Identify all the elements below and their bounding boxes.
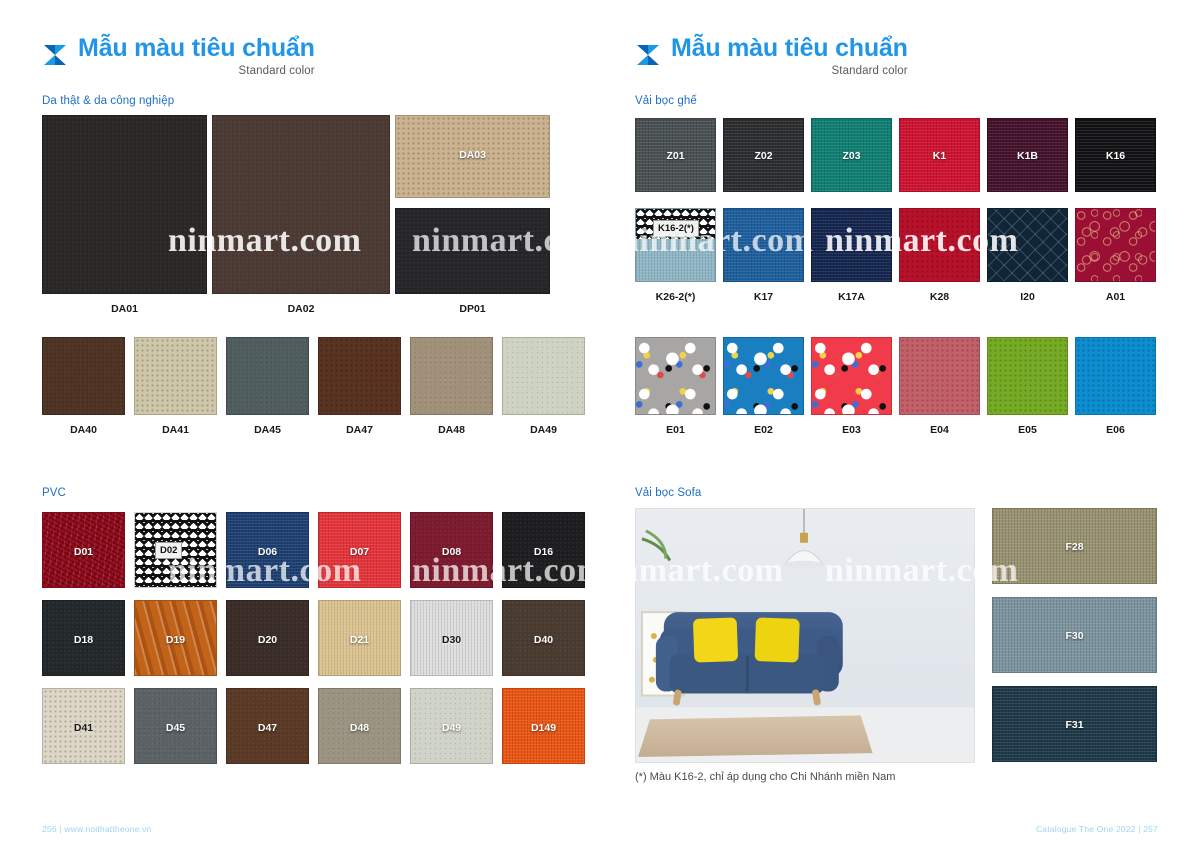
swatch-code-label: D21	[319, 634, 400, 646]
swatch-k17a[interactable]	[811, 208, 892, 282]
swatch-code-label: D08	[411, 546, 492, 558]
swatch-d149[interactable]: D149	[502, 688, 585, 764]
swatch-a01[interactable]	[1075, 208, 1156, 282]
swatch-caption: DP01	[395, 303, 550, 315]
swatch-cell-z03[interactable]: Z03	[811, 118, 899, 192]
swatch-cell-k1b[interactable]: K1B	[987, 118, 1075, 192]
swatch-caption: DA48	[410, 424, 493, 436]
swatch-cell-z02[interactable]: Z02	[723, 118, 811, 192]
swatch-d40[interactable]: D40	[502, 600, 585, 676]
swatch-da48[interactable]	[410, 337, 493, 415]
swatch-cell-d21[interactable]: D21	[318, 600, 410, 676]
swatch-cell-e06[interactable]: E06	[1075, 337, 1163, 415]
swatch-code-label: D07	[319, 546, 400, 558]
swatch-cell-da47[interactable]: DA47	[318, 337, 410, 415]
swatch-code-label: D41	[43, 722, 124, 734]
swatch-code-label: D45	[135, 722, 216, 734]
swatch-cell-d45[interactable]: D45	[134, 688, 226, 764]
page-subtitle: Standard color	[671, 65, 908, 77]
swatch-note-label: K16-2(*)	[653, 220, 699, 237]
swatch-k28[interactable]	[899, 208, 980, 282]
swatch-cell-e05[interactable]: E05	[987, 337, 1075, 415]
swatch-d47[interactable]: D47	[226, 688, 309, 764]
swatch-code-label: Z03	[812, 150, 891, 162]
swatch-code-label: Z01	[636, 150, 715, 162]
right-page-header: Mẫu màu tiêu chuẩn Standard color	[635, 34, 908, 77]
swatch-d21[interactable]: D21	[318, 600, 401, 676]
swatch-caption: E04	[899, 424, 980, 436]
swatch-stack-f: F28 F30 F31	[992, 508, 1157, 762]
swatch-da02[interactable]	[212, 115, 390, 294]
swatch-k17[interactable]	[723, 208, 804, 282]
section-label-sofa-fabric: Vải bọc Sofa	[635, 487, 701, 499]
swatch-code-label: D48	[319, 722, 400, 734]
swatch-caption: E01	[635, 424, 716, 436]
swatch-code-label: K16	[1076, 150, 1155, 162]
swatch-da45[interactable]	[226, 337, 309, 415]
swatch-f30[interactable]: F30	[992, 597, 1157, 673]
swatch-caption: DA01	[42, 303, 207, 315]
swatch-e05[interactable]	[987, 337, 1068, 415]
swatch-cell-d18[interactable]: D18	[42, 600, 134, 676]
swatch-caption: I20	[987, 291, 1068, 303]
left-page: Mẫu màu tiêu chuẩn Standard color Da thậ…	[0, 0, 600, 848]
swatch-cell-d02[interactable]: D02	[134, 512, 226, 588]
swatch-caption: DA47	[318, 424, 401, 436]
swatch-d41[interactable]: D41	[42, 688, 125, 764]
swatch-d49[interactable]: D49	[410, 688, 493, 764]
swatch-caption: E06	[1075, 424, 1156, 436]
swatch-cell-d40[interactable]: D40	[502, 600, 594, 676]
swatch-cell-e01[interactable]: E01	[635, 337, 723, 415]
swatch-cell-d49[interactable]: D49	[410, 688, 502, 764]
pinwheel-logo-icon	[42, 42, 68, 68]
swatch-cell-d41[interactable]: D41	[42, 688, 134, 764]
sofa-photo	[635, 508, 975, 763]
swatch-cell-a01[interactable]: A01	[1075, 208, 1163, 282]
swatch-code-label: K1	[900, 150, 979, 162]
swatch-code-label: D20	[227, 634, 308, 646]
pinwheel-logo-icon	[635, 42, 661, 68]
swatch-cell-k17[interactable]: K17	[723, 208, 811, 282]
swatch-f31[interactable]: F31	[992, 686, 1157, 762]
section-label-leather: Da thật & da công nghiệp	[42, 95, 174, 107]
swatch-z01[interactable]: Z01	[635, 118, 716, 192]
swatch-cell-da03-dp01[interactable]: DA03 DP01	[395, 115, 555, 294]
swatch-cell-e02[interactable]: E02	[723, 337, 811, 415]
swatch-k1[interactable]: K1	[899, 118, 980, 192]
swatch-caption: DA40	[42, 424, 125, 436]
swatch-caption: K17A	[811, 291, 892, 303]
swatch-da03[interactable]: DA03	[395, 115, 550, 198]
swatch-cell-k28[interactable]: K28	[899, 208, 987, 282]
swatch-code-label: D47	[227, 722, 308, 734]
swatch-caption: K26-2(*)	[635, 291, 716, 303]
swatch-caption: DA49	[502, 424, 585, 436]
section-label-chair-fabric: Vải bọc ghế	[635, 95, 697, 107]
swatch-cell-da02[interactable]: DA02	[212, 115, 395, 294]
catalogue-spread: Mẫu màu tiêu chuẩn Standard color Da thậ…	[0, 0, 1200, 848]
swatch-cell-da48[interactable]: DA48	[410, 337, 502, 415]
swatch-row-z: Z01 Z02 Z03 K1	[635, 118, 1163, 192]
swatch-d08[interactable]: D08	[410, 512, 493, 588]
swatch-code-label: F31	[993, 719, 1156, 731]
swatch-code-label: D16	[503, 546, 584, 558]
swatch-e06[interactable]	[1075, 337, 1156, 415]
swatch-caption: E02	[723, 424, 804, 436]
swatch-da41[interactable]	[134, 337, 217, 415]
swatch-caption: K17	[723, 291, 804, 303]
swatch-da01[interactable]	[42, 115, 207, 294]
swatch-split-bottom	[636, 239, 715, 281]
swatch-code-label: D49	[411, 722, 492, 734]
swatch-cell-d19[interactable]: D19	[134, 600, 226, 676]
swatch-e02[interactable]	[723, 337, 804, 415]
right-page: Mẫu màu tiêu chuẩn Standard color Vải bọ…	[600, 0, 1200, 848]
swatch-cell-i20[interactable]: I20	[987, 208, 1075, 282]
swatch-cell-e03[interactable]: E03	[811, 337, 899, 415]
swatch-code-label: K1B	[988, 150, 1067, 162]
page-subtitle: Standard color	[78, 65, 315, 77]
swatch-row-pvc-3: D41 D45 D47 D48	[42, 688, 594, 764]
swatch-code-label: D06	[227, 546, 308, 558]
swatch-cell-d07[interactable]: D07	[318, 512, 410, 588]
swatch-dp01[interactable]	[395, 208, 550, 294]
swatch-d30[interactable]: D30	[410, 600, 493, 676]
swatch-code-label: Z02	[724, 150, 803, 162]
swatch-code-label: D30	[411, 634, 492, 646]
swatch-cell-k16[interactable]: K16	[1075, 118, 1163, 192]
swatch-caption: K28	[899, 291, 980, 303]
swatch-da47[interactable]	[318, 337, 401, 415]
swatch-e01[interactable]	[635, 337, 716, 415]
swatch-code-label: D02	[155, 542, 182, 559]
swatch-z02[interactable]: Z02	[723, 118, 804, 192]
swatch-cell-da01[interactable]: DA01	[42, 115, 212, 294]
swatch-row-k: K16-2(*) K26-2(*) K17 K17A K28 I20	[635, 208, 1163, 282]
swatch-cell-d47[interactable]: D47	[226, 688, 318, 764]
swatch-code-label: F30	[993, 630, 1156, 642]
swatch-row-da40: DA40 DA41 DA45 DA47 DA48	[42, 337, 594, 415]
swatch-row-leather-feature: DA01 DA02 DA03 DP01	[42, 115, 555, 294]
swatch-caption: E05	[987, 424, 1068, 436]
swatch-caption: DA45	[226, 424, 309, 436]
swatch-cell-k26-2[interactable]: K16-2(*) K26-2(*)	[635, 208, 723, 282]
swatch-d16[interactable]: D16	[502, 512, 585, 588]
swatch-cell-k1[interactable]: K1	[899, 118, 987, 192]
swatch-cell-da41[interactable]: DA41	[134, 337, 226, 415]
swatch-cell-e04[interactable]: E04	[899, 337, 987, 415]
swatch-caption: A01	[1075, 291, 1156, 303]
left-page-footer: 256 | www.noithattheone.vn	[42, 824, 151, 834]
swatch-code-label: F28	[993, 541, 1156, 553]
swatch-cell-d16[interactable]: D16	[502, 512, 594, 588]
swatch-da49[interactable]	[502, 337, 585, 415]
swatch-cell-z01[interactable]: Z01	[635, 118, 723, 192]
page-title: Mẫu màu tiêu chuẩn	[78, 34, 315, 63]
swatch-i20[interactable]	[987, 208, 1068, 282]
section-label-pvc: PVC	[42, 487, 66, 499]
swatch-f28[interactable]: F28	[992, 508, 1157, 584]
page-title: Mẫu màu tiêu chuẩn	[671, 34, 908, 63]
swatch-code-label: D40	[503, 634, 584, 646]
swatch-k1b[interactable]: K1B	[987, 118, 1068, 192]
swatch-cell-d01[interactable]: D01	[42, 512, 134, 588]
swatch-cell-da45[interactable]: DA45	[226, 337, 318, 415]
swatch-code-label: D18	[43, 634, 124, 646]
footnote: (*) Màu K16-2, chỉ áp dụng cho Chi Nhánh…	[635, 771, 895, 783]
swatch-d18[interactable]: D18	[42, 600, 125, 676]
swatch-cell-d08[interactable]: D08	[410, 512, 502, 588]
swatch-cell-d149[interactable]: D149	[502, 688, 594, 764]
left-page-header: Mẫu màu tiêu chuẩn Standard color	[42, 34, 315, 77]
swatch-cell-d30[interactable]: D30	[410, 600, 502, 676]
swatch-d07[interactable]: D07	[318, 512, 401, 588]
swatch-d19[interactable]: D19	[134, 600, 217, 676]
swatch-cell-d20[interactable]: D20	[226, 600, 318, 676]
swatch-da40[interactable]	[42, 337, 125, 415]
swatch-cell-da40[interactable]: DA40	[42, 337, 134, 415]
swatch-code-label: D19	[135, 634, 216, 646]
swatch-d01[interactable]: D01	[42, 512, 125, 588]
swatch-e03[interactable]	[811, 337, 892, 415]
swatch-e04[interactable]	[899, 337, 980, 415]
swatch-k16[interactable]: K16	[1075, 118, 1156, 192]
swatch-caption: DA41	[134, 424, 217, 436]
swatch-d06[interactable]: D06	[226, 512, 309, 588]
swatch-cell-k17a[interactable]: K17A	[811, 208, 899, 282]
right-page-footer: Catalogue The One 2022 | 257	[1036, 824, 1158, 834]
swatch-cell-d48[interactable]: D48	[318, 688, 410, 764]
swatch-caption: E03	[811, 424, 892, 436]
swatch-cell-d06[interactable]: D06	[226, 512, 318, 588]
swatch-d45[interactable]: D45	[134, 688, 217, 764]
swatch-z03[interactable]: Z03	[811, 118, 892, 192]
swatch-row-pvc-1: D01 D02 D06 D07	[42, 512, 594, 588]
swatch-row-pvc-2: D18 D19 D20 D21	[42, 600, 594, 676]
swatch-d48[interactable]: D48	[318, 688, 401, 764]
swatch-code-label: D01	[43, 546, 124, 558]
swatch-code-label: DA03	[396, 149, 549, 161]
swatch-row-e: E01 E02 E03 E04 E05	[635, 337, 1163, 415]
swatch-code-label: D149	[503, 722, 584, 734]
swatch-cell-da49[interactable]: DA49	[502, 337, 594, 415]
swatch-caption: DA02	[212, 303, 390, 315]
swatch-d20[interactable]: D20	[226, 600, 309, 676]
